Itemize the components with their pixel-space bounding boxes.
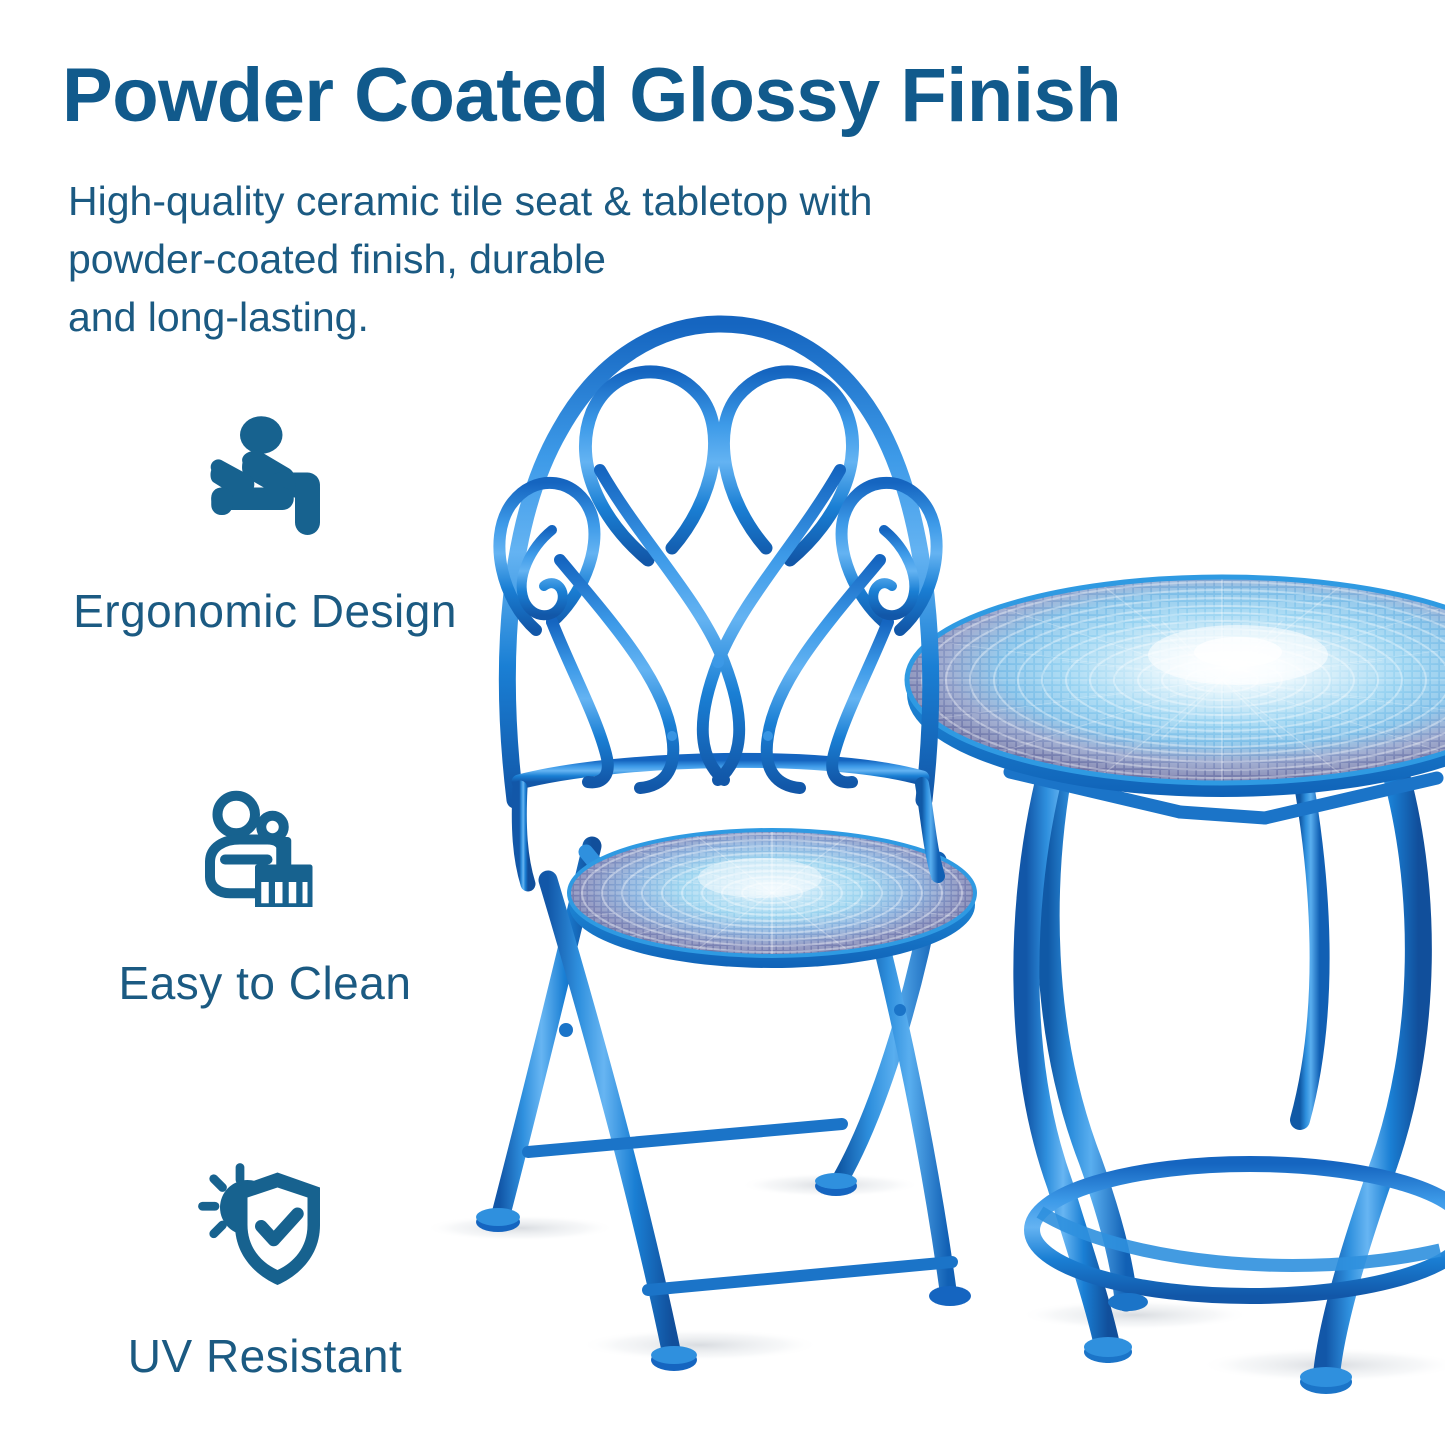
scrub-brush-bubbles-icon xyxy=(0,772,530,942)
table-rim xyxy=(907,591,1445,797)
table-mosaic-tiles xyxy=(900,570,1445,790)
feature-label-uv-resistant: UV Resistant xyxy=(0,1329,530,1383)
sun-shield-check-icon xyxy=(0,1145,530,1315)
subtitle-line-2: powder-coated finish, durable xyxy=(68,230,1008,288)
chair-backrest xyxy=(499,324,938,884)
seat-mosaic-tiles xyxy=(560,815,990,975)
chair-feet xyxy=(476,1173,971,1371)
subtitle-line-1: High-quality ceramic tile seat & tableto… xyxy=(68,172,1008,230)
feature-item-easy-to-clean: Easy to Clean xyxy=(0,772,530,1010)
page-subtitle: High-quality ceramic tile seat & tableto… xyxy=(68,172,1008,347)
table-feet xyxy=(1084,1293,1352,1394)
floor-shadows xyxy=(425,1173,1445,1382)
feature-item-ergonomic-design: Ergonomic Design xyxy=(0,400,530,638)
chair-seat xyxy=(560,815,990,975)
feature-item-uv-resistant: UV Resistant xyxy=(0,1145,530,1383)
mosaic-folding-bistro-chair xyxy=(476,324,990,1371)
table-legs xyxy=(1010,760,1437,1380)
mosaic-bistro-table xyxy=(900,570,1445,1394)
feature-label-ergonomic-design: Ergonomic Design xyxy=(0,584,530,638)
feature-label-easy-to-clean: Easy to Clean xyxy=(0,956,530,1010)
table-ring-stretcher xyxy=(1032,1164,1445,1296)
subtitle-line-3: and long-lasting. xyxy=(68,288,1008,346)
chair-folding-legs xyxy=(500,846,952,1355)
page-title: Powder Coated Glossy Finish xyxy=(62,58,1242,134)
person-sitting-in-chair-icon xyxy=(0,400,530,570)
product-feature-banner: Powder Coated Glossy Finish High-quality… xyxy=(0,0,1445,1445)
